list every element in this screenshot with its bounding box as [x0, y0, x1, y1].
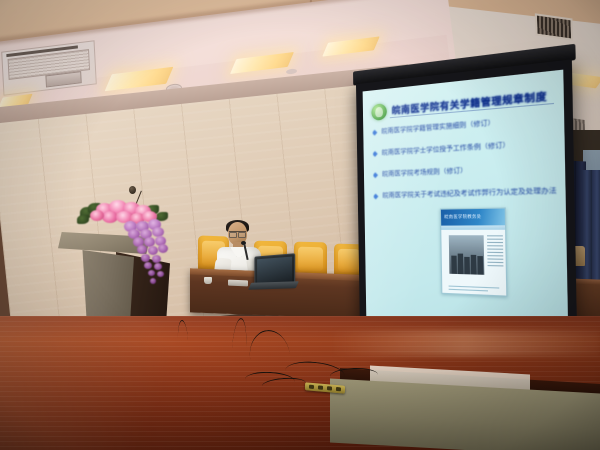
text-line — [487, 255, 503, 256]
cascading-flower — [152, 255, 161, 263]
power-socket — [336, 387, 341, 391]
eyeglasses-icon — [229, 231, 246, 236]
text-line — [487, 248, 503, 249]
photo-figure — [471, 255, 477, 275]
projection-screen[interactable]: 皖南医学院有关学籍管理规章制度 皖南医学院学籍管理实施细则（修订） 皖南医学院学… — [356, 59, 577, 349]
text-line — [487, 245, 503, 246]
auditorium-chair — [294, 242, 327, 277]
cascading-flower — [137, 245, 147, 254]
desk-cup — [204, 277, 212, 284]
document-footer-line — [449, 289, 488, 292]
desk-nameplate — [228, 280, 248, 287]
floral-arrangement — [78, 203, 170, 241]
text-line — [487, 262, 503, 263]
slide-title: 皖南医学院有关学籍管理规章制度 — [392, 88, 554, 117]
ceiling-light — [322, 36, 379, 56]
document-banner: 皖南医学院教务处 — [441, 209, 505, 226]
text-line — [487, 235, 503, 236]
cascading-flower — [141, 254, 150, 262]
text-line — [487, 252, 503, 253]
cascading-flower — [157, 271, 164, 277]
document-text-lines — [487, 235, 503, 268]
cascading-flower — [148, 246, 158, 255]
photo-figure — [464, 257, 470, 274]
foliage-leaf — [77, 215, 89, 224]
cascading-flower — [154, 263, 162, 270]
text-line — [487, 242, 503, 243]
laptop-screen-glow — [257, 257, 292, 284]
gooseneck-microphone-head-icon — [129, 186, 136, 194]
slide-bullet-list: 皖南医学院学籍管理实施细则（修订） 皖南医学院学士学位授予工作条例（修订） 皖南… — [373, 114, 559, 214]
power-socket — [318, 385, 323, 389]
document-photo — [449, 235, 485, 275]
slide-embedded-document: 皖南医学院教务处 — [440, 207, 508, 296]
slide-bullet-item: 皖南医学院学士学位授予工作条例（修订） — [373, 138, 557, 158]
photo-figure — [451, 256, 457, 274]
cascading-flower — [158, 244, 168, 253]
document-banner-text: 皖南医学院教务处 — [444, 213, 481, 220]
cascading-flower — [150, 278, 156, 284]
power-socket — [309, 385, 314, 389]
photo-figure — [458, 254, 464, 275]
power-socket — [327, 386, 332, 390]
slide-bullet-item: 皖南医学院学籍管理实施细则（修订） — [373, 114, 557, 137]
photo-figure — [477, 256, 483, 275]
cascading-flower — [144, 262, 152, 269]
projected-slide: 皖南医学院有关学籍管理规章制度 皖南医学院学籍管理实施细则（修订） 皖南医学院学… — [363, 70, 569, 337]
slide-logo-glyph — [375, 107, 383, 118]
floor-light-reflection — [330, 330, 600, 356]
flower-petal — [90, 210, 104, 221]
text-line — [488, 265, 504, 266]
text-line — [487, 258, 503, 259]
slide-bullet-item: 皖南医学院关于考试违纪及考试作弊行为认定及处理办法（修订） — [374, 187, 558, 201]
slide-bullet-item: 皖南医学院考场规则（修订） — [373, 163, 557, 180]
document-navbar — [441, 225, 505, 230]
slide-logo-icon — [371, 103, 387, 121]
cascading-flower — [148, 270, 155, 276]
text-line — [487, 239, 503, 240]
conference-hall-photo: 皖南医学院有关学籍管理规章制度 皖南医学院学籍管理实施细则（修订） 皖南医学院学… — [0, 0, 600, 450]
